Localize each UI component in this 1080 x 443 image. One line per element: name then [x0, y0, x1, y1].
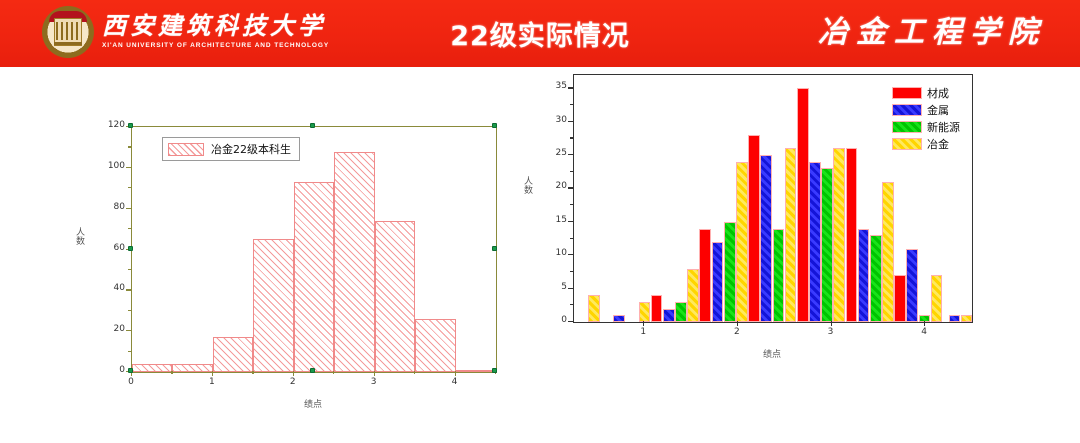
grouped-bar: [773, 229, 785, 322]
left-chart-x-tick-label: 2: [281, 377, 305, 387]
right-chart-x-tick-label: 2: [725, 327, 749, 337]
right-chart-legend[interactable]: 材成金属新能源冶金: [892, 85, 960, 152]
right-chart-y-tick-label: 15: [543, 215, 567, 225]
grouped-bar: [712, 242, 724, 322]
left-chart-y-minor-tick: [128, 310, 131, 311]
grouped-bar: [639, 302, 651, 322]
left-chart-y-tick: [126, 330, 131, 331]
left-chart-y-tick-label: 80: [97, 202, 125, 212]
right-chart-x-tick-label: 4: [912, 327, 936, 337]
right-chart-y-tick-label: 35: [543, 81, 567, 91]
left-chart-y-tick-label: 0: [97, 365, 125, 375]
right-chart-y-tick-label: 30: [543, 115, 567, 125]
left-chart-x-tick-label: 3: [362, 377, 386, 387]
slide-body: 人数 绩点 02040608010012001234冶金22级本科生 人数 材成…: [0, 67, 1080, 443]
right-chart-x-tick: [737, 321, 738, 326]
left-chart-y-minor-tick: [128, 269, 131, 270]
grouped-bar: [588, 295, 600, 322]
selection-handle[interactable]: [128, 368, 133, 373]
histogram-bar: [213, 337, 253, 372]
histogram-bar: [132, 364, 172, 372]
university-name-cn: 西安建筑科技大学: [102, 15, 329, 40]
selection-handle[interactable]: [128, 123, 133, 128]
grouped-bar: [846, 148, 858, 322]
right-chart-y-minor-tick: [570, 238, 573, 239]
histogram-bar: [294, 182, 334, 372]
left-chart-y-minor-tick: [128, 187, 131, 188]
right-chart-y-tick: [568, 254, 573, 255]
right-chart-x-tick-label: 1: [631, 327, 655, 337]
legend-label: 金属: [927, 102, 949, 118]
right-chart-y-minor-tick: [570, 104, 573, 105]
legend-swatch: [892, 121, 922, 133]
right-chart-y-tick: [568, 288, 573, 289]
legend-swatch: [892, 87, 922, 99]
selection-handle[interactable]: [128, 246, 133, 251]
right-chart-x-tick: [643, 321, 644, 326]
right-chart-x-tick: [924, 321, 925, 326]
grouped-bar: [821, 168, 833, 322]
left-chart-y-tick: [126, 208, 131, 209]
right-chart-y-tick: [568, 321, 573, 322]
right-chart-y-minor-tick: [570, 204, 573, 205]
right-chart-y-minor-tick: [570, 137, 573, 138]
university-name-en: XI'AN UNIVERSITY OF ARCHITECTURE AND TEC…: [102, 42, 329, 49]
left-chart-y-minor-tick: [128, 351, 131, 352]
legend-swatch: [892, 138, 922, 150]
grouped-bar: [687, 269, 699, 322]
left-chart-x-minor-tick: [252, 371, 253, 374]
histogram-bar: [375, 221, 415, 372]
left-chart-y-tick-label: 40: [97, 283, 125, 293]
university-crest-icon: [42, 6, 94, 58]
grouped-bar: [931, 275, 943, 322]
legend-label: 新能源: [927, 119, 960, 135]
right-chart-y-tick: [568, 154, 573, 155]
left-chart-y-minor-tick: [128, 146, 131, 147]
selection-handle[interactable]: [310, 123, 315, 128]
grouped-bar: [699, 229, 711, 322]
right-chart-y-tick: [568, 187, 573, 188]
grouped-bar: [882, 182, 894, 322]
left-chart-y-tick-label: 20: [97, 324, 125, 334]
grouped-bar: [870, 235, 882, 322]
grouped-bar: [961, 315, 973, 322]
grouped-bar: [748, 135, 760, 322]
right-chart-y-minor-tick: [570, 304, 573, 305]
grouped-bar: [797, 88, 809, 322]
right-chart-y-tick: [568, 87, 573, 88]
legend-label: 材成: [927, 85, 949, 101]
left-chart-y-tick-label: 60: [97, 243, 125, 253]
left-chart-x-tick: [374, 371, 375, 376]
left-chart-x-minor-tick: [171, 371, 172, 374]
left-chart-y-tick: [126, 289, 131, 290]
right-chart-y-minor-tick: [570, 171, 573, 172]
legend-item[interactable]: 金属: [892, 102, 960, 118]
left-chart-y-tick-label: 120: [97, 120, 125, 130]
chart-grouped-bars-right[interactable]: 人数 材成金属新能源冶金 绩点 051015202530351234: [540, 67, 1080, 443]
grouped-bar: [949, 315, 961, 322]
selection-handle[interactable]: [492, 123, 497, 128]
grouped-bar: [651, 295, 663, 322]
grouped-bar: [785, 148, 797, 322]
selection-handle[interactable]: [492, 368, 497, 373]
right-chart-y-tick: [568, 221, 573, 222]
left-chart-y-minor-tick: [128, 228, 131, 229]
department-name: 冶金工程学院: [818, 7, 1046, 51]
left-chart-x-axis-label: 绩点: [131, 397, 495, 410]
left-chart-y-axis-label: 人数: [73, 227, 86, 245]
right-chart-x-tick: [831, 321, 832, 326]
left-chart-plot-area[interactable]: [131, 126, 497, 373]
legend-item[interactable]: 新能源: [892, 119, 960, 135]
histogram-bar: [415, 319, 455, 372]
grouped-bar: [736, 162, 748, 322]
histogram-bar: [456, 370, 496, 372]
legend-swatch: [168, 143, 204, 156]
legend-item[interactable]: 冶金: [892, 136, 960, 152]
left-chart-x-tick-label: 4: [443, 377, 467, 387]
right-chart-y-tick-label: 5: [543, 282, 567, 292]
histogram-bar: [334, 152, 374, 373]
grouped-bar: [858, 229, 870, 322]
legend-swatch: [892, 104, 922, 116]
left-chart-x-tick: [455, 371, 456, 376]
grouped-bar: [809, 162, 821, 322]
right-chart-y-minor-tick: [570, 271, 573, 272]
left-chart-y-tick: [126, 167, 131, 168]
university-logo: 西安建筑科技大学 XI'AN UNIVERSITY OF ARCHITECTUR…: [42, 6, 329, 58]
grouped-bar: [894, 275, 906, 322]
left-chart-x-minor-tick: [414, 371, 415, 374]
histogram-bar: [253, 239, 293, 372]
selection-handle[interactable]: [492, 246, 497, 251]
grouped-bar: [760, 155, 772, 322]
right-chart-x-axis-label: 绩点: [573, 347, 971, 360]
left-chart-x-minor-tick: [333, 371, 334, 374]
left-chart-legend[interactable]: 冶金22级本科生: [162, 137, 300, 161]
right-chart-x-tick-label: 3: [819, 327, 843, 337]
right-chart-y-tick-label: 10: [543, 248, 567, 258]
histogram-bar: [172, 364, 212, 372]
left-chart-y-tick-label: 100: [97, 161, 125, 171]
left-chart-x-tick: [212, 371, 213, 376]
legend-item[interactable]: 材成: [892, 85, 960, 101]
grouped-bar: [724, 222, 736, 322]
right-chart-plot-area[interactable]: 材成金属新能源冶金: [573, 74, 973, 323]
left-chart-x-tick-label: 1: [200, 377, 224, 387]
right-chart-y-tick-label: 0: [543, 315, 567, 325]
right-chart-y-tick-label: 25: [543, 148, 567, 158]
right-chart-y-tick-label: 20: [543, 181, 567, 191]
grouped-bar: [833, 148, 845, 322]
right-chart-y-tick: [568, 121, 573, 122]
legend-label: 冶金: [927, 136, 949, 152]
grouped-bar: [675, 302, 687, 322]
left-chart-x-tick: [293, 371, 294, 376]
selection-handle[interactable]: [310, 368, 315, 373]
grouped-bar: [663, 309, 675, 322]
slide-header-banner: 西安建筑科技大学 XI'AN UNIVERSITY OF ARCHITECTUR…: [0, 0, 1080, 67]
left-chart-x-tick-label: 0: [119, 377, 143, 387]
right-chart-y-axis-label: 人数: [521, 176, 534, 194]
grouped-bar: [613, 315, 625, 322]
chart-histogram-left[interactable]: 人数 绩点 02040608010012001234冶金22级本科生: [0, 67, 540, 443]
grouped-bar: [906, 249, 918, 322]
legend-label: 冶金22级本科生: [211, 141, 291, 157]
